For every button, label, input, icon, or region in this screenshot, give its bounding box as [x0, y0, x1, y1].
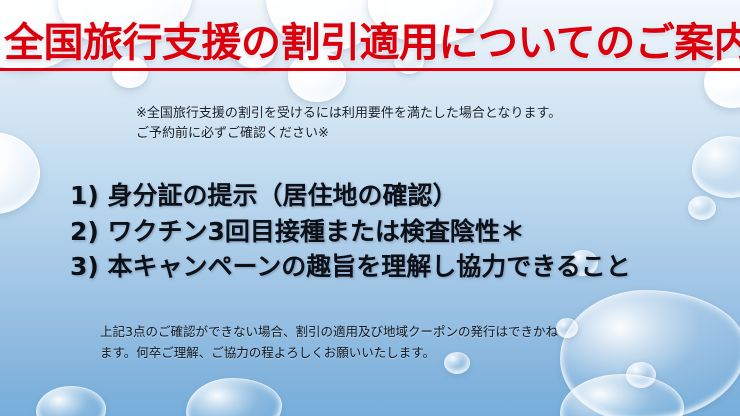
slide-title-container: 全国旅行支援の割引適用についてのご案内 — [0, 22, 740, 71]
water-droplet-icon — [36, 386, 106, 416]
requirement-item-1: 1) 身分証の提示（居住地の確認） — [70, 178, 690, 214]
water-droplet-icon — [688, 196, 716, 220]
water-droplet-icon — [692, 136, 740, 198]
slide-title: 全国旅行支援の割引適用についてのご案内 — [0, 22, 740, 71]
requirement-item-3: 3) 本キャンペーンの趣旨を理解し協力できること — [70, 249, 690, 285]
presentation-slide: 全国旅行支援の割引適用についてのご案内 ※全国旅行支援の割引を受けるには利用要件… — [0, 0, 740, 416]
slide-note: ※全国旅行支援の割引を受けるには利用要件を満たした場合となります。ご予約前に必ず… — [136, 104, 566, 144]
requirement-list: 1) 身分証の提示（居住地の確認） 2) ワクチン3回目接種または検査陰性＊ 3… — [70, 178, 690, 285]
water-droplet-icon — [186, 378, 282, 416]
slide-footer-note: 上記3点のご確認ができない場合、割引の適用及び地域クーポンの発行はできかねます。… — [100, 322, 570, 363]
water-droplet-icon — [0, 132, 40, 214]
water-droplet-icon — [560, 374, 684, 416]
water-droplet-icon — [626, 362, 656, 388]
water-droplet-icon — [560, 290, 740, 416]
requirement-item-2: 2) ワクチン3回目接種または検査陰性＊ — [70, 214, 690, 250]
